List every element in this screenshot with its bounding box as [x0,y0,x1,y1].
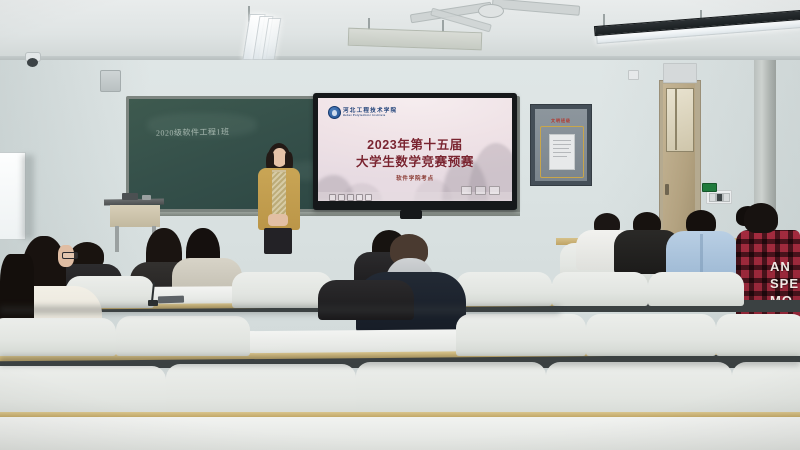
student-right-dark-jacket [318,280,414,320]
light-switch-panel[interactable] [706,190,732,204]
exit-sign-icon [702,183,717,192]
institution-name-en: Hebei Polytechnic Institute [343,114,386,117]
door-transom [663,63,697,83]
bench-seat [648,272,744,306]
bench-seat [456,272,552,306]
display-panel[interactable]: 河北工程技术学院 Hebei Polytechnic Institute 202… [313,93,517,210]
slide-title-line2: 大学生数学竞赛预赛 [318,151,512,170]
classroom-photo-scene: 2020级软件工程1班 河北工程技术学院 Hebei Polytechnic I… [0,0,800,450]
home-icon[interactable] [329,194,336,201]
desk-shadow [0,306,560,314]
plaid-text-line2: SPE [770,275,800,292]
lectern-console[interactable] [122,193,138,200]
framed-certificate: 文明班级 [530,104,592,186]
bench-seat [456,314,586,356]
plaid-text-line1: AN [770,258,800,275]
eraser-icon[interactable] [356,194,363,201]
slide-subtitle: 软件学院考点 [318,174,512,182]
presentation-slide: 河北工程技术学院 Hebei Polytechnic Institute 202… [318,98,512,201]
more-icon[interactable] [365,194,372,201]
student-head-plaid [744,203,778,233]
whiteboard-shadow [22,155,34,239]
door-handle-icon[interactable] [665,184,669,195]
smartphone-on-desk[interactable] [158,296,184,304]
door-window [666,88,694,152]
plaque-title: 文明班级 [535,118,587,124]
bench-seat [116,316,250,356]
desk-surface-row1 [0,414,800,450]
display-screen[interactable]: 河北工程技术学院 Hebei Polytechnic Institute 202… [318,98,512,201]
plaque-card [549,134,575,170]
window-icon[interactable] [475,186,486,195]
wall-outlet [628,70,639,80]
lectern-device[interactable] [142,195,151,200]
bench-seat [552,272,648,306]
star-icon[interactable] [338,194,345,201]
chalk-tray [126,212,520,216]
bench-seat [0,318,116,356]
desk-shadow [0,356,800,366]
bench-seat [586,314,716,356]
pen-icon[interactable] [347,194,354,201]
bench-seat [716,314,800,356]
desk-edge-row1 [0,412,800,417]
bench-seat [232,272,332,308]
institution-name-cn: 河北工程技术学院 [343,106,397,114]
minimize-icon[interactable] [461,186,472,195]
institution-logo-icon [328,106,341,119]
close-icon[interactable] [489,186,500,195]
blackboard-chalk-text: 2020级软件工程1班 [156,126,230,139]
wall-speaker [100,70,121,92]
display-stand [400,210,422,219]
